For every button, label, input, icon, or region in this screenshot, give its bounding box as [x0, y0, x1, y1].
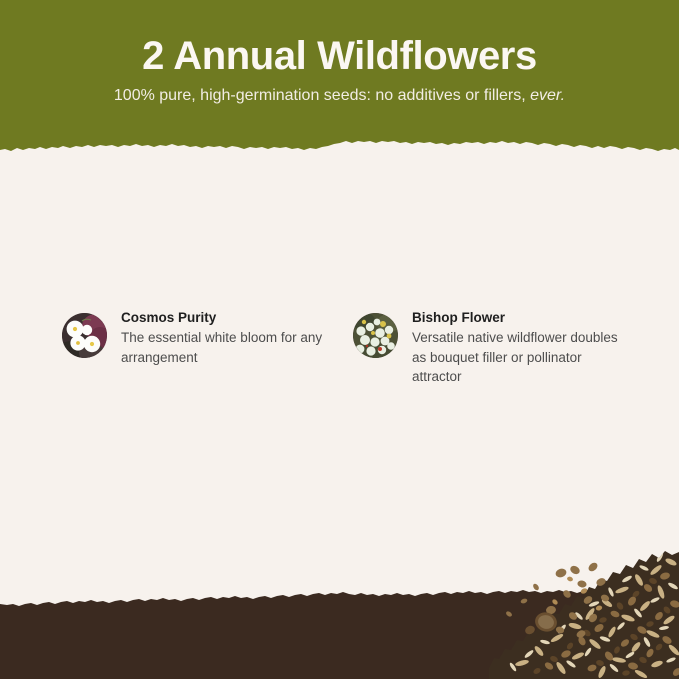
- bishop-flower-photo-icon: [353, 313, 398, 358]
- item-name: Bishop Flower: [412, 309, 622, 327]
- item-text-block: Cosmos Purity The essential white bloom …: [121, 306, 331, 367]
- bishop-flower-thumbnail[interactable]: [353, 313, 398, 358]
- footer-banner: [0, 560, 679, 679]
- infographic-page: 2 Annual Wildflowers 100% pure, high-ger…: [0, 0, 679, 679]
- cosmos-purity-photo-icon: [62, 313, 107, 358]
- list-item[interactable]: Bishop Flower Versatile native wildflowe…: [353, 306, 622, 387]
- wildflower-list: Cosmos Purity The essential white bloom …: [62, 306, 622, 387]
- item-description: The essential white bloom for any arrang…: [121, 328, 331, 367]
- top-torn-paper-edge-icon: [0, 0, 679, 158]
- item-name: Cosmos Purity: [121, 309, 331, 327]
- bottom-torn-paper-edge-icon: [0, 560, 679, 679]
- list-item[interactable]: Cosmos Purity The essential white bloom …: [62, 306, 331, 387]
- cosmos-purity-thumbnail[interactable]: [62, 313, 107, 358]
- item-text-block: Bishop Flower Versatile native wildflowe…: [412, 306, 622, 387]
- item-description: Versatile native wildflower doubles as b…: [412, 328, 622, 387]
- header-banner: 2 Annual Wildflowers 100% pure, high-ger…: [0, 0, 679, 158]
